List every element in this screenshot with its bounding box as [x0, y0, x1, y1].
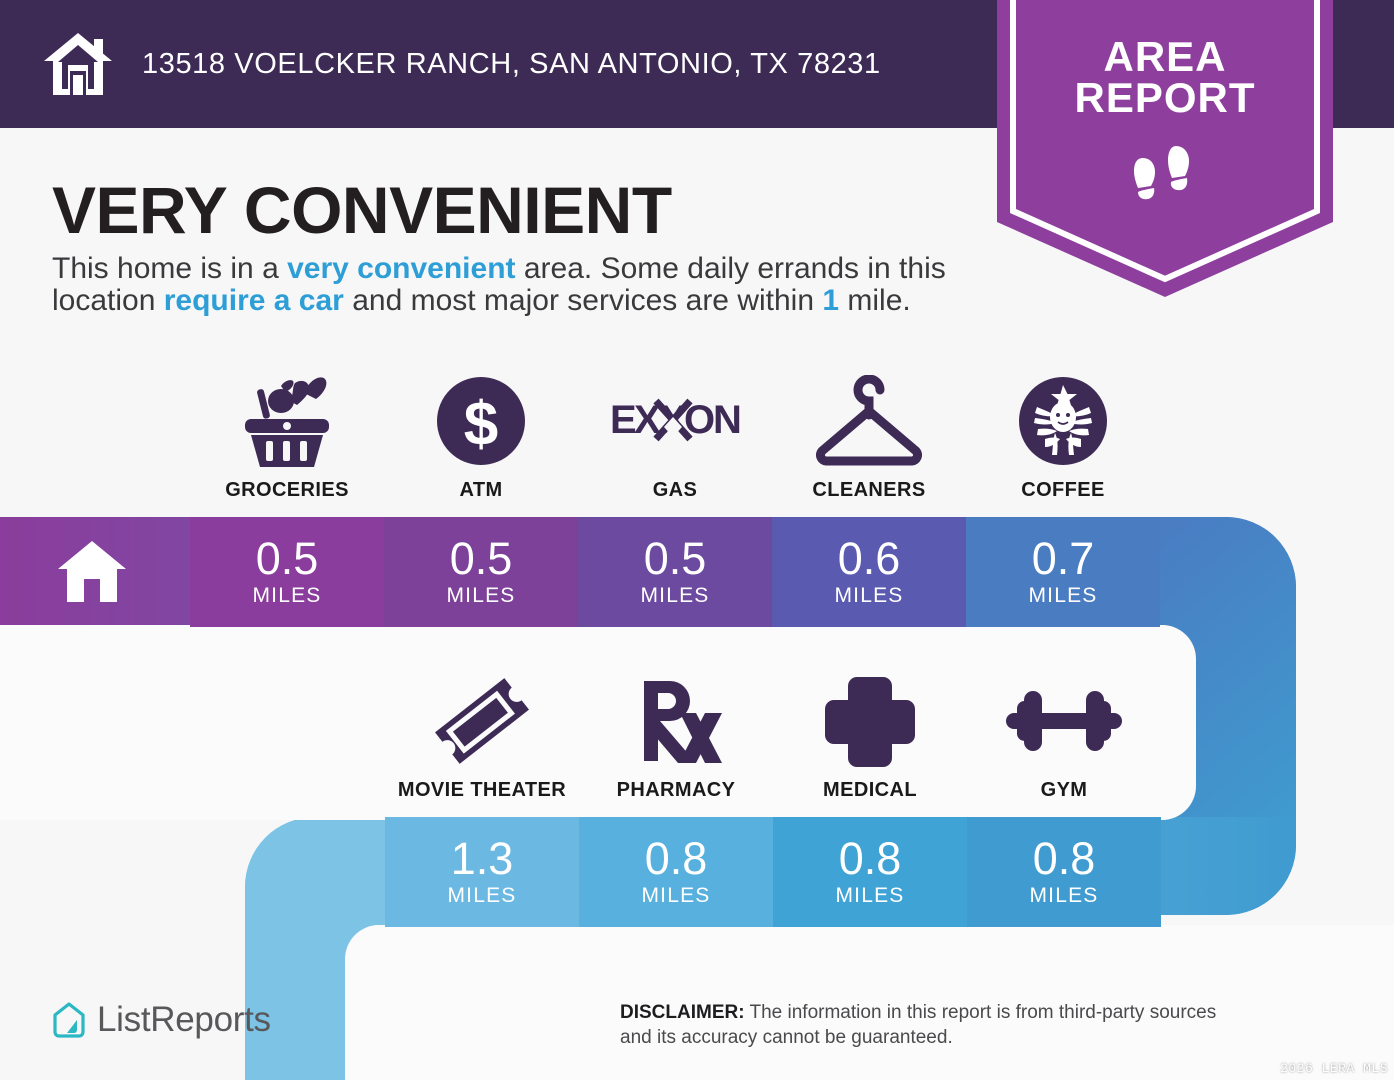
listreports-wordmark: ListReports	[97, 1000, 271, 1040]
svg-text:E: E	[610, 398, 636, 442]
distance-unit: MILES	[1029, 884, 1098, 908]
category-label: PHARMACY	[617, 779, 736, 802]
dollar-circle-icon: $	[433, 368, 529, 473]
distance-cell: 1.3 MILES	[385, 817, 579, 927]
category-atm: $ ATM	[384, 368, 578, 502]
category-cleaners: CLEANERS	[772, 368, 966, 502]
distance-value: 0.5	[450, 536, 513, 581]
distance-cell: 0.5 MILES	[384, 517, 578, 627]
exxon-logo-icon: E X X O N	[610, 368, 740, 473]
row2-distances: 1.3 MILES 0.8 MILES 0.8 MILES 0.8 MILES	[385, 817, 1161, 927]
category-label: MEDICAL	[823, 779, 917, 802]
badge-title: AREA REPORT	[997, 36, 1333, 118]
category-label: GYM	[1041, 779, 1088, 802]
mls-watermark: 2026 LERA MLS	[1280, 1061, 1388, 1076]
category-gym: GYM	[967, 668, 1161, 802]
area-report-page: 13518 VOELCKER RANCH, SAN ANTONIO, TX 78…	[0, 0, 1394, 1080]
summary-mid-2: and most major services are within	[344, 284, 823, 317]
category-label: COFFEE	[1021, 479, 1105, 502]
footprints-icon	[1129, 140, 1201, 212]
category-gas: E X X O N GAS	[578, 368, 772, 502]
row1-distances: 0.5 MILES 0.5 MILES 0.5 MILES 0.6 MILES …	[190, 517, 1160, 627]
distance-value: 0.6	[838, 536, 901, 581]
distance-cell: 0.8 MILES	[773, 817, 967, 927]
distance-value: 0.8	[839, 836, 902, 881]
summary-text: This home is in a very convenient area. …	[52, 253, 992, 317]
category-label: MOVIE THEATER	[398, 779, 566, 802]
distance-cell: 0.7 MILES	[966, 517, 1160, 627]
distance-value: 0.8	[1033, 836, 1096, 881]
disclaimer-label: DISCLAIMER:	[620, 1002, 745, 1023]
badge-line-1: AREA	[997, 36, 1333, 77]
distance-unit: MILES	[834, 584, 903, 608]
category-coffee: COFFEE	[966, 368, 1160, 502]
category-groceries: GROCERIES	[190, 368, 384, 502]
distance-value: 1.3	[451, 836, 514, 881]
distance-unit: MILES	[252, 584, 321, 608]
distance-unit: MILES	[641, 884, 710, 908]
summary-prefix: This home is in a	[52, 252, 287, 285]
distance-unit: MILES	[446, 584, 515, 608]
distance-value: 0.5	[256, 536, 319, 581]
page-title: VERY CONVENIENT	[52, 172, 672, 248]
rx-icon	[628, 668, 724, 773]
row1-icons: GROCERIES $ ATM E X X O N	[190, 368, 1160, 502]
category-movie-theater: MOVIE THEATER	[385, 668, 579, 802]
summary-highlight-convenience: very convenient	[287, 252, 515, 285]
starbucks-siren-icon	[1015, 368, 1111, 473]
distance-value: 0.5	[644, 536, 707, 581]
disclaimer: DISCLAIMER: The information in this repo…	[620, 1000, 1240, 1050]
distance-cell: 0.5 MILES	[190, 517, 384, 627]
category-label: GROCERIES	[225, 479, 349, 502]
area-report-badge: AREA REPORT	[997, 0, 1333, 297]
distance-cell: 0.8 MILES	[967, 817, 1161, 927]
category-pharmacy: PHARMACY	[579, 668, 773, 802]
svg-text:N: N	[713, 398, 740, 442]
category-medical: MEDICAL	[773, 668, 967, 802]
property-address: 13518 VOELCKER RANCH, SAN ANTONIO, TX 78…	[142, 48, 881, 81]
category-label: ATM	[459, 479, 502, 502]
medical-cross-icon	[824, 668, 916, 773]
distance-cell: 0.8 MILES	[579, 817, 773, 927]
distance-value: 0.8	[645, 836, 708, 881]
home-icon	[42, 31, 114, 97]
dumbbell-icon	[1004, 668, 1124, 773]
listreports-logo: ListReports	[52, 1000, 271, 1040]
grocery-basket-icon	[235, 368, 339, 473]
svg-text:$: $	[464, 390, 498, 459]
distance-unit: MILES	[1028, 584, 1097, 608]
row2-icons: MOVIE THEATER PHARMACY MEDICAL	[385, 668, 1161, 802]
ticket-icon	[430, 668, 534, 773]
summary-highlight-miles: 1	[822, 284, 839, 317]
clothes-hanger-icon	[810, 368, 928, 473]
home-icon	[56, 538, 128, 604]
listreports-house-icon	[52, 1001, 86, 1039]
summary-highlight-car: require a car	[164, 284, 344, 317]
badge-line-2: REPORT	[997, 77, 1333, 118]
distance-cell: 0.6 MILES	[772, 517, 966, 627]
category-label: CLEANERS	[812, 479, 925, 502]
distance-unit: MILES	[447, 884, 516, 908]
distance-cell: 0.5 MILES	[578, 517, 772, 627]
category-label: GAS	[653, 479, 698, 502]
distance-unit: MILES	[640, 584, 709, 608]
summary-suffix: mile.	[839, 284, 911, 317]
distance-unit: MILES	[835, 884, 904, 908]
distance-value: 0.7	[1032, 536, 1095, 581]
